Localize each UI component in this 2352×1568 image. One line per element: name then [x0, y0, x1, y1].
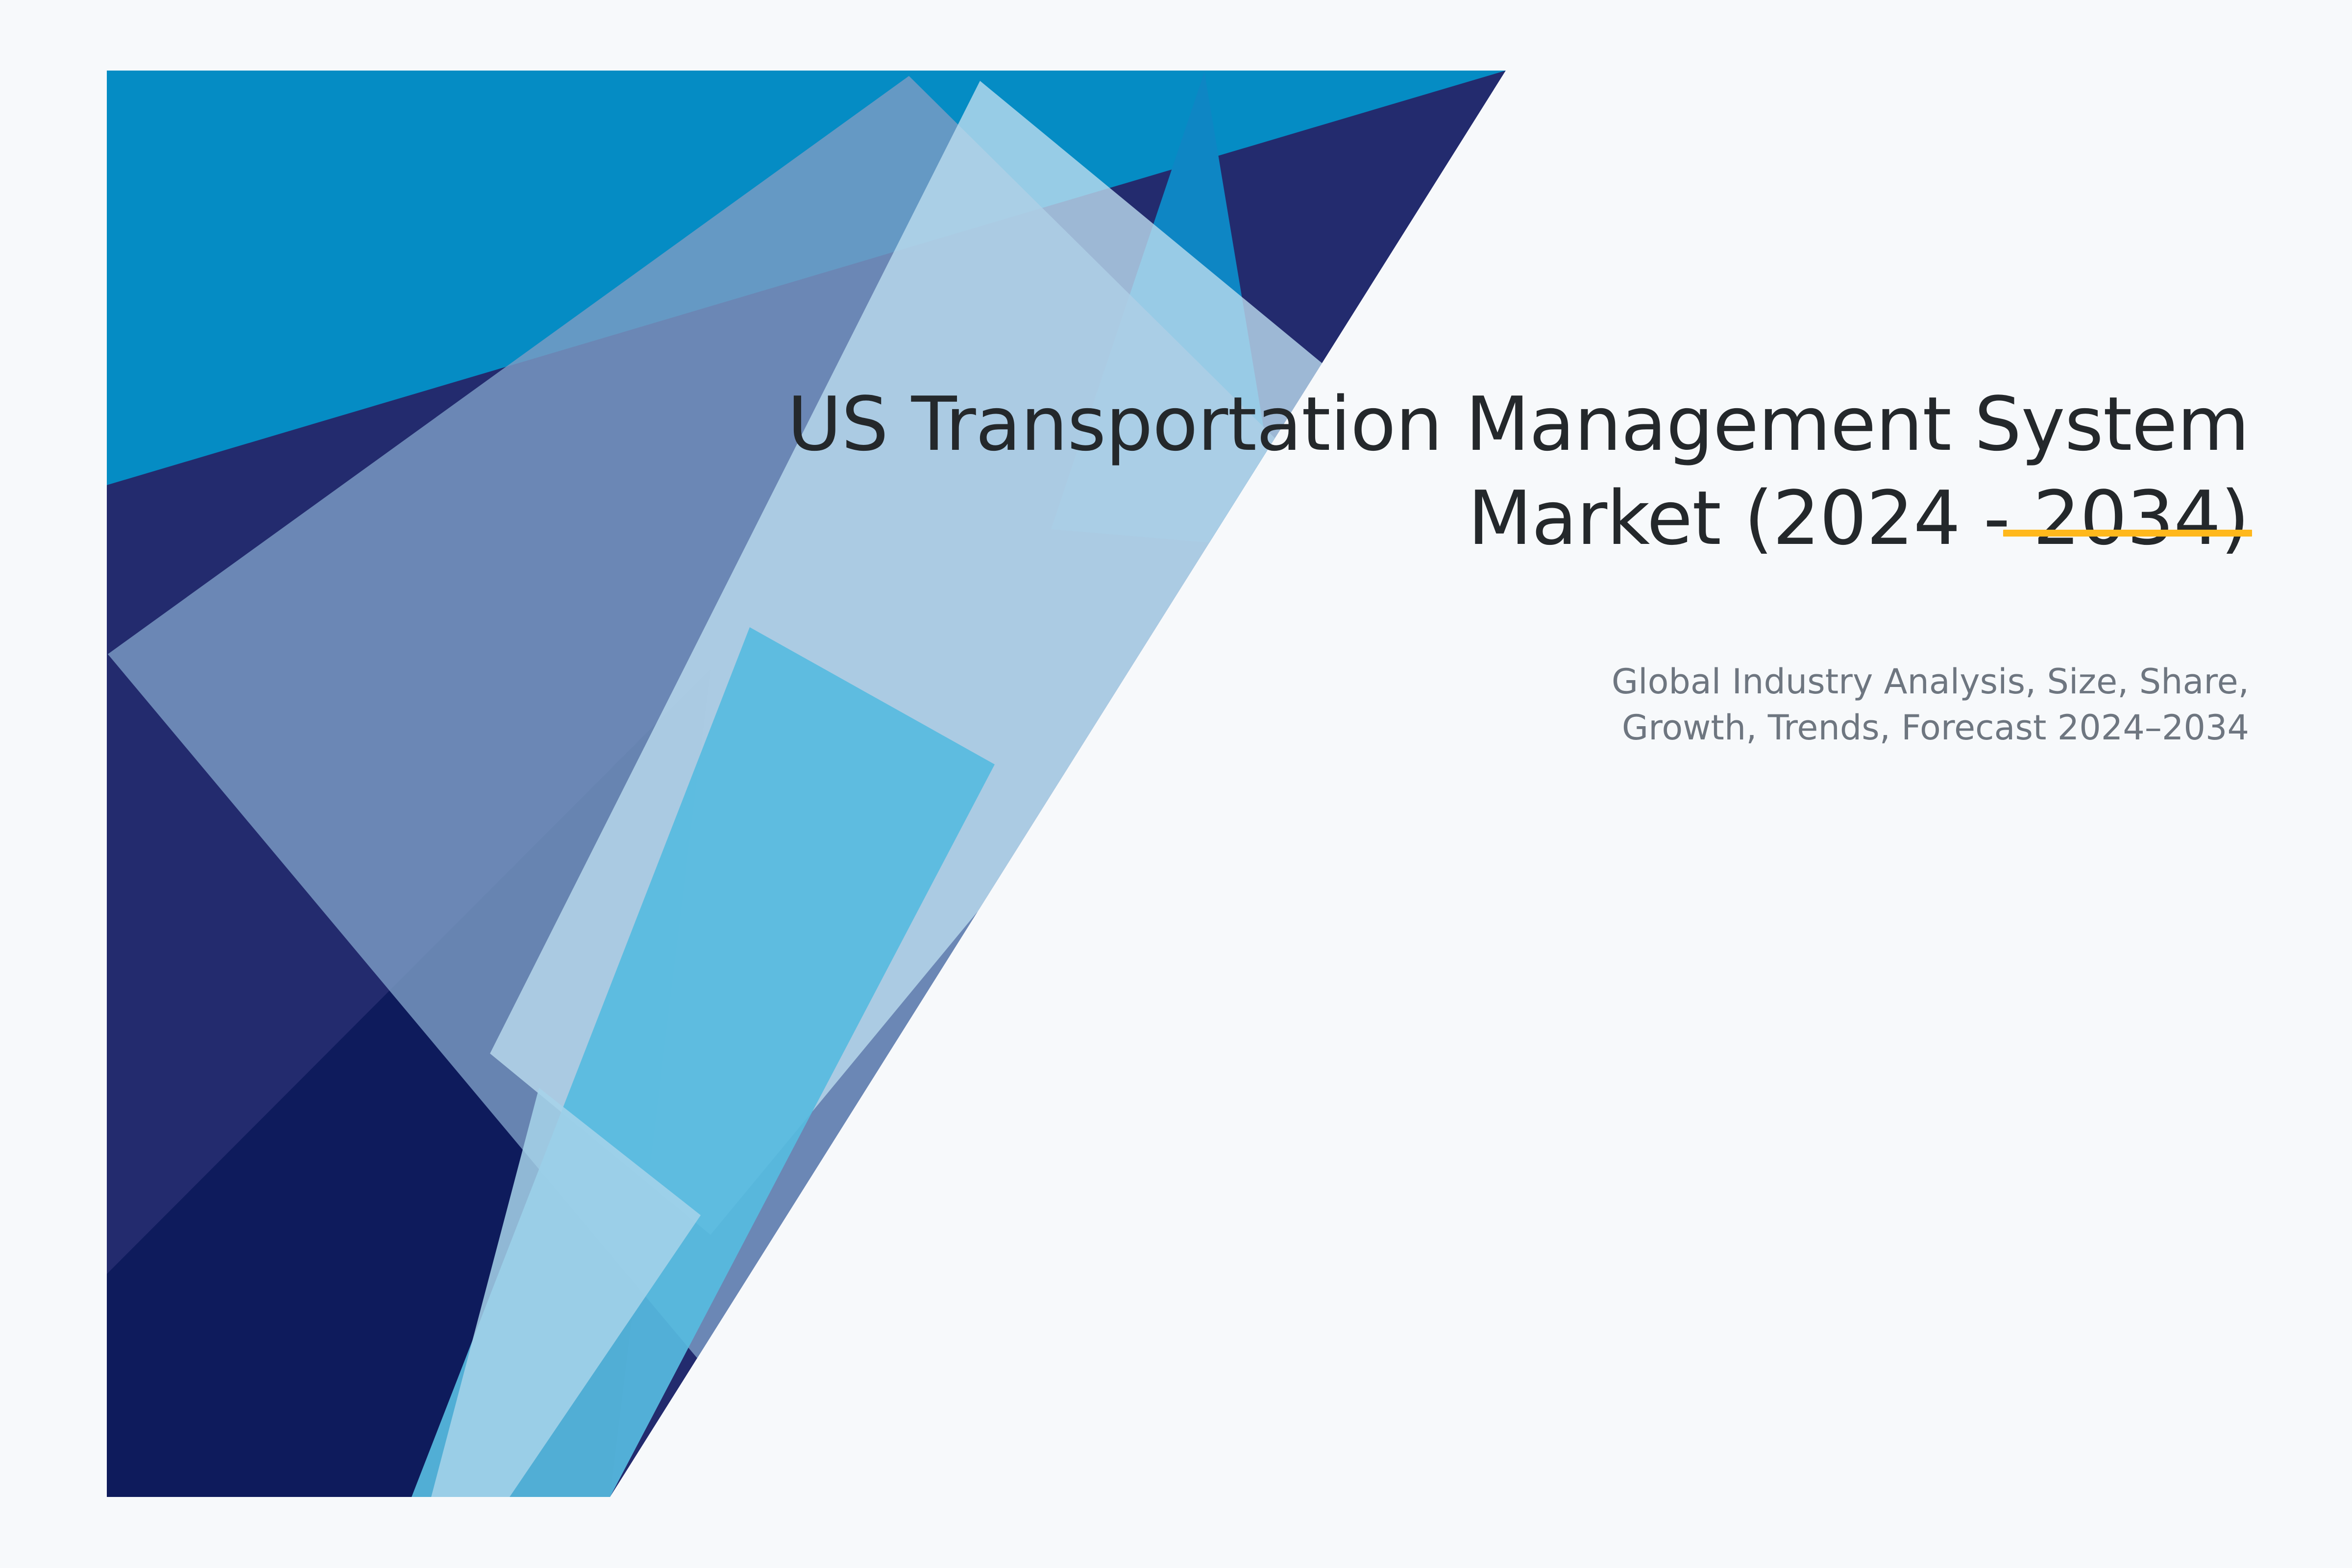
shape-deep-navy-wedge	[107, 669, 710, 1497]
artwork-svg	[0, 0, 2352, 1568]
shape-pale-blue-translucent	[490, 81, 1387, 1235]
page-subtitle: Global Industry Analysis, Size, Share, G…	[1372, 659, 2249, 751]
shape-pale-bottom-triangle	[431, 1088, 701, 1497]
shape-navy-field	[107, 71, 1506, 1497]
shape-slate-translucent	[108, 76, 1387, 1497]
report-cover-page: US Transportation Management System Mark…	[0, 0, 2352, 1568]
cover-artwork	[0, 0, 2352, 1568]
title-accent-underline	[2003, 530, 2252, 537]
artwork-shape-group	[107, 71, 1506, 1497]
shape-sky-blue-band	[412, 627, 995, 1497]
cover-text-block: US Transportation Management System Mark…	[686, 377, 2249, 565]
page-title: US Transportation Management System Mark…	[686, 377, 2249, 565]
